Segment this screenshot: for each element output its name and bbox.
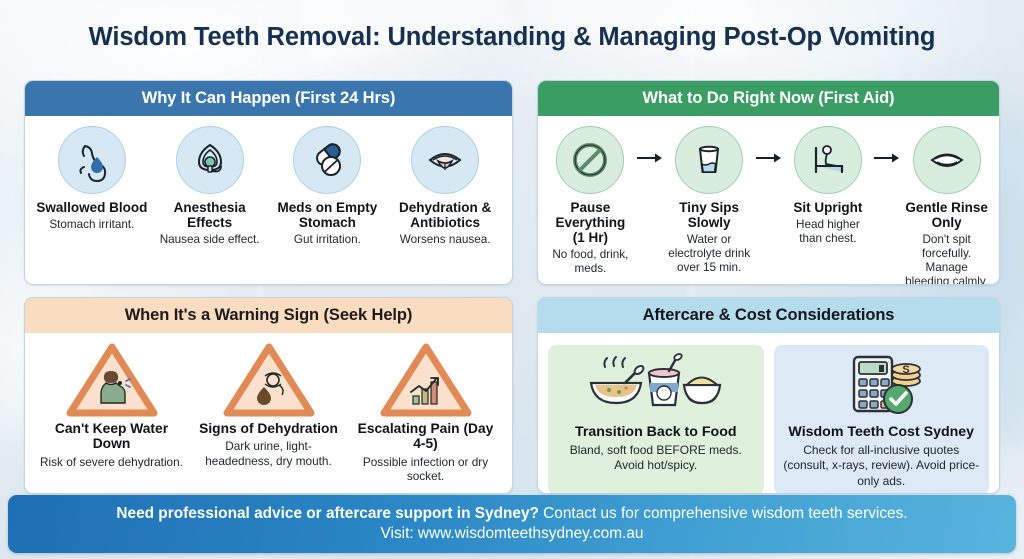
stomach-icon (58, 126, 126, 194)
arrow-right-icon (754, 126, 784, 164)
cause-title: Anesthesia Effects (154, 200, 266, 230)
panel-what-to-do-right-now: What to Do Right Now (First Aid) Pause E… (537, 80, 1000, 285)
cause-desc: Stomach irritant. (49, 218, 134, 232)
svg-text:S: S (903, 364, 910, 376)
footer-rest-text: Contact us for comprehensive wisdom teet… (539, 505, 908, 522)
water-glass-icon (675, 126, 743, 194)
mouth-rinse-icon (913, 126, 981, 194)
first-aid-desc: Don't spit forcefully. Manage bleeding c… (904, 233, 989, 285)
panel-body-aftercare: Transition Back to Food Bland, soft food… (538, 333, 999, 494)
panel-header-causes: Why It Can Happen (First 24 Hrs) (25, 81, 512, 116)
first-aid-title: Tiny Sips Slowly (667, 200, 752, 230)
aftercare-card-title: Transition Back to Food (575, 424, 737, 440)
warning-desc: Possible infection or dry socket. (350, 455, 501, 483)
footer-website-url[interactable]: Visit: www.wisdomteethsydney.com.au (381, 524, 644, 544)
warning-item-cant-keep-water-down: Can't Keep Water Down Risk of severe deh… (33, 343, 190, 487)
cause-desc: Gut irritation. (294, 233, 361, 247)
pills-icon (293, 126, 361, 194)
footer-cta-banner[interactable]: Need professional advice or aftercare su… (8, 495, 1016, 553)
first-aid-title: Pause Everything (1 Hr) (548, 200, 633, 245)
panel-header-first-aid: What to Do Right Now (First Aid) (538, 81, 999, 116)
first-aid-title: Gentle Rinse Only (904, 200, 989, 230)
aftercare-card-title: Wisdom Teeth Cost Sydney (788, 424, 974, 440)
first-aid-desc: No food, drink, meds. (548, 248, 633, 276)
rising-chart-warning-icon (380, 343, 472, 417)
warning-title: Can't Keep Water Down (36, 421, 187, 452)
cause-item-meds-empty-stomach: Meds on Empty Stomach Gut irritation. (269, 126, 387, 278)
person-vomiting-warning-icon (66, 343, 158, 417)
cause-item-swallowed-blood: Swallowed Blood Stomach irritant. (33, 126, 151, 278)
arrow-right-icon (635, 126, 665, 164)
panel-aftercare-cost: Aftercare & Cost Considerations (537, 297, 1000, 494)
dehydration-droplet-warning-icon (223, 343, 315, 417)
first-aid-title: Sit Upright (793, 200, 862, 215)
panel-warning-signs: When It's a Warning Sign (Seek Help) Can… (24, 297, 513, 494)
panel-body-warning: Can't Keep Water Down Risk of severe deh… (25, 333, 512, 493)
aftercare-card-wisdom-teeth-cost-sydney: S Wisdom Teeth Cost Sydney Check for all… (774, 345, 990, 494)
first-aid-desc: Water or electrolyte drink over 15 min. (667, 233, 752, 274)
panel-header-warning: When It's a Warning Sign (Seek Help) (25, 298, 512, 333)
cause-title: Dehydration & Antibiotics (389, 200, 501, 230)
warning-item-escalating-pain: Escalating Pain (Day 4-5) Possible infec… (347, 343, 504, 487)
cause-title: Meds on Empty Stomach (272, 200, 384, 230)
footer-primary-line: Need professional advice or aftercare su… (116, 504, 907, 524)
aftercare-card-desc: Bland, soft food BEFORE meds. Avoid hot/… (556, 443, 756, 473)
panel-body-causes: Swallowed Blood Stomach irritant. Anes (25, 116, 512, 284)
calculator-coins-check-icon: S (832, 353, 930, 420)
panel-grid: Why It Can Happen (First 24 Hrs) Swallow… (24, 80, 1000, 494)
aftercare-card-transition-back-to-food: Transition Back to Food Bland, soft food… (548, 345, 764, 494)
prohibition-icon (556, 126, 624, 194)
footer-lead-text: Need professional advice or aftercare su… (116, 505, 539, 522)
warning-item-signs-of-dehydration: Signs of Dehydration Dark urine, light-h… (190, 343, 347, 487)
cause-item-dehydration-antibiotics: Dehydration & Antibiotics Worsens nausea… (386, 126, 504, 278)
arrow-right-icon (872, 126, 902, 164)
cause-desc: Nausea side effect. (160, 233, 260, 247)
warning-title: Escalating Pain (Day 4-5) (350, 421, 501, 452)
warning-desc: Risk of severe dehydration. (40, 455, 183, 469)
warning-title: Signs of Dehydration (199, 421, 338, 436)
dry-mouth-tongue-icon (411, 126, 479, 194)
first-aid-step-sit-upright: Sit Upright Head higher than chest. (784, 126, 873, 246)
panel-why-it-can-happen: Why It Can Happen (First 24 Hrs) Swallow… (24, 80, 513, 285)
first-aid-step-gentle-rinse: Gentle Rinse Only Don't spit forcefully.… (902, 126, 991, 285)
cause-title: Swallowed Blood (36, 200, 147, 215)
page-title: Wisdom Teeth Removal: Understanding & Ma… (0, 23, 1024, 52)
panel-header-aftercare: Aftercare & Cost Considerations (538, 298, 999, 333)
first-aid-step-tiny-sips: Tiny Sips Slowly Water or electrolyte dr… (665, 126, 754, 275)
aftercare-card-desc: Check for all-inclusive quotes (consult,… (782, 443, 982, 488)
warning-desc: Dark urine, light-headedness, dry mouth. (193, 439, 344, 467)
first-aid-step-pause-everything: Pause Everything (1 Hr) No food, drink, … (546, 126, 635, 276)
sit-upright-bed-icon (794, 126, 862, 194)
panel-body-first-aid: Pause Everything (1 Hr) No food, drink, … (538, 116, 999, 285)
anesthesia-mask-icon (176, 126, 244, 194)
first-aid-desc: Head higher than chest. (786, 218, 871, 246)
cause-item-anesthesia-effects: Anesthesia Effects Nausea side effect. (151, 126, 269, 278)
cause-desc: Worsens nausea. (400, 233, 491, 247)
soft-foods-icon (581, 353, 731, 420)
